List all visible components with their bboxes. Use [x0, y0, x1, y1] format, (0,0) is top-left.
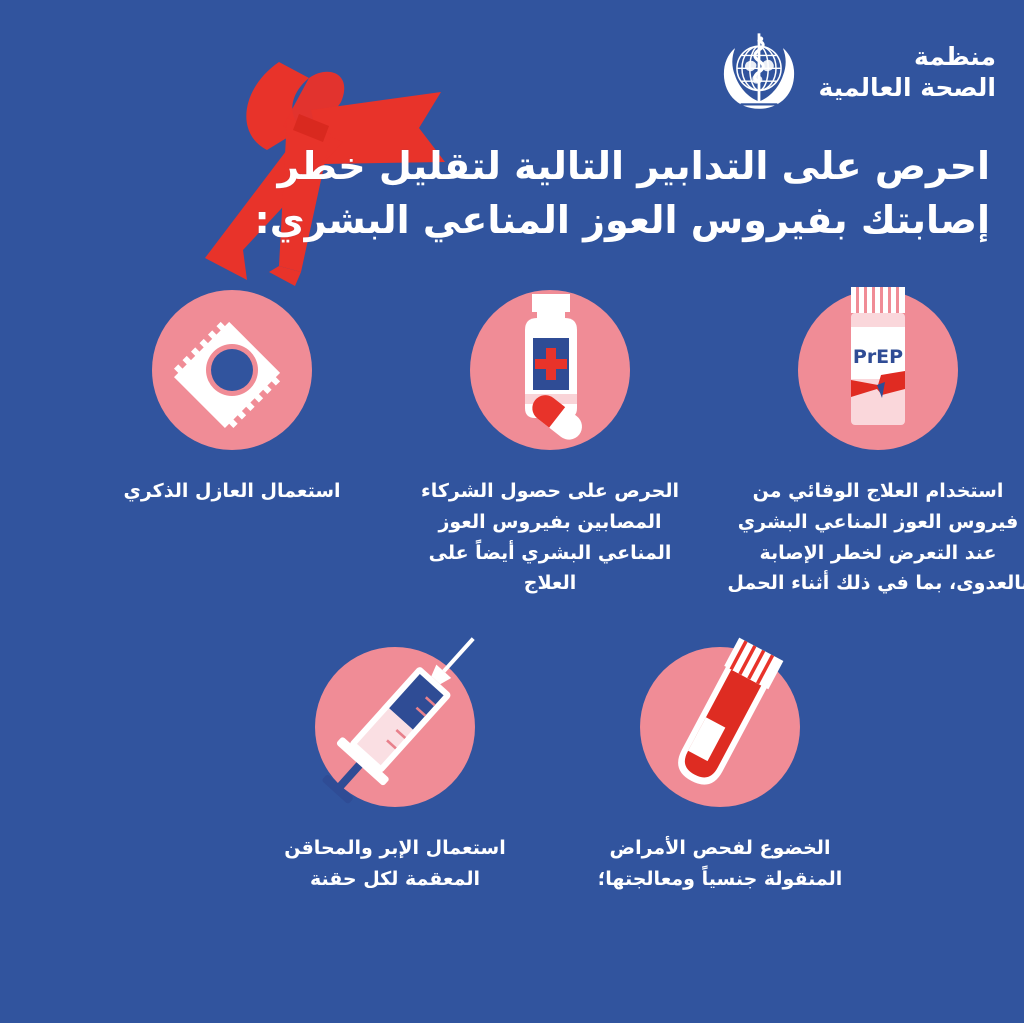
infographic-poster: منظمة الصحة العالمية	[0, 0, 1024, 1023]
item-caption: استعمال العازل الذكري	[82, 476, 382, 507]
prevention-item-condom: استعمال العازل الذكري	[82, 290, 382, 507]
medicine-bottle-icon	[475, 290, 625, 450]
item-caption: الحرص على حصول الشركاء المصابين بفيروس ا…	[400, 476, 700, 599]
prep-pill-bottle-icon: PrEP	[803, 285, 953, 455]
who-wordmark: منظمة الصحة العالمية	[819, 41, 996, 103]
icon-bubble	[152, 290, 312, 450]
icon-bubble: PrEP	[798, 290, 958, 450]
who-emblem-icon	[713, 26, 805, 118]
who-logo: منظمة الصحة العالمية	[713, 26, 996, 118]
prevention-item-prep: PrEP استخدام العلاج الوقائي من فيروس الع…	[723, 290, 1024, 599]
item-caption: الخضوع لفحص الأمراض المنقولة جنسياً ومعا…	[570, 833, 870, 895]
prevention-item-art: الحرص على حصول الشركاء المصابين بفيروس ا…	[400, 290, 700, 599]
icon-bubble	[640, 647, 800, 807]
item-caption: استعمال الإبر والمحاقن المعقمة لكل حقنة	[245, 833, 545, 895]
prevention-item-sti: الخضوع لفحص الأمراض المنقولة جنسياً ومعا…	[570, 647, 870, 895]
blood-test-tube-icon	[635, 637, 805, 817]
condom-wrapper-icon	[162, 300, 302, 440]
syringe-icon	[310, 627, 480, 827]
prep-label: PrEP	[853, 346, 903, 368]
page-title: احرص على التدابير التالية لتقليل خطر إصا…	[170, 140, 990, 248]
icon-bubble	[315, 647, 475, 807]
item-caption: استخدام العلاج الوقائي من فيروس العوز ال…	[723, 476, 1024, 599]
prevention-item-needles: استعمال الإبر والمحاقن المعقمة لكل حقنة	[245, 647, 545, 895]
icon-bubble	[470, 290, 630, 450]
